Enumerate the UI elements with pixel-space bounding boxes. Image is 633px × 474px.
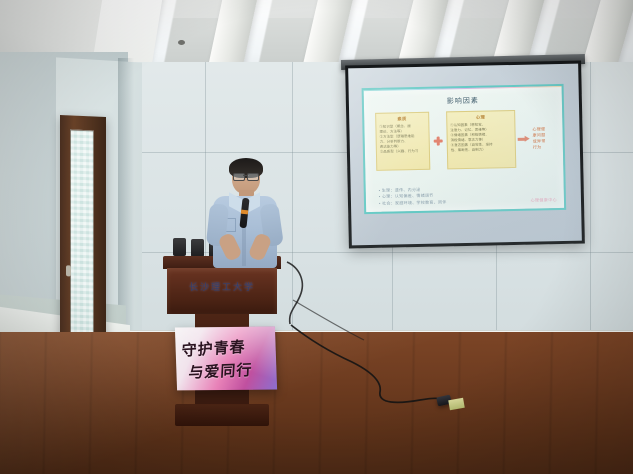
slide-arrow-cell	[517, 110, 532, 168]
slide-accent-bar	[364, 84, 562, 91]
screen-canvas: 影响因素 素质 ①知识型（概念、原 理论、方法等） ②方法型（逻辑思维能 力、分…	[348, 64, 582, 246]
banner-line-1: 守护青春	[181, 334, 269, 360]
side-door[interactable]	[60, 115, 106, 349]
slide-diagram: 素质 ①知识型（概念、原 理论、方法等） ②方法型（逻辑思维能 力、分析判断力、…	[375, 109, 552, 171]
slide-outcome-line: 行为	[533, 144, 546, 150]
wall-panel-seam	[590, 62, 591, 334]
lecture-hall-photo: 影响因素 素质 ①知识型（概念、原 理论、方法等） ②方法型（逻辑思维能 力、分…	[0, 0, 633, 474]
slide-title: 影响因素	[364, 94, 562, 108]
wood-floor	[0, 332, 633, 474]
desk-mic-1	[173, 238, 186, 256]
podium-front-panel: 长沙理工大学	[167, 268, 277, 314]
podium-institution-text: 长沙理工大学	[167, 280, 277, 293]
slide-plus-cell	[431, 111, 446, 169]
plus-icon	[433, 136, 442, 145]
presentation-slide: 影响因素 素质 ①知识型（概念、原 理论、方法等） ②方法型（逻辑思维能 力、分…	[362, 84, 567, 214]
smoke-detector-icon	[178, 40, 185, 45]
slide-box-left: 素质 ①知识型（概念、原 理论、方法等） ②方法型（逻辑思维能 力、分析判断力、…	[375, 112, 430, 171]
slide-box-left-line: ③品质型（兴趣、行为习	[380, 149, 426, 155]
banner-line-2: 与爱同行	[188, 358, 271, 383]
slide-box-right-header: 心理	[450, 114, 511, 121]
glasses-lens-right	[247, 173, 259, 181]
slide-box-left-header: 素质	[379, 116, 425, 123]
wall-panel-seam	[292, 62, 293, 338]
slide-box-right: 心理 ①认知因素（感知觉、 注意力、记忆、思维等） ②情绪因素（积极情绪、 消极…	[446, 110, 516, 169]
door-handle-icon[interactable]	[66, 265, 71, 276]
presenter	[196, 158, 292, 268]
door-glass-panel	[70, 129, 94, 340]
slide-box-right-line: 性、果断性、自制力）	[451, 147, 512, 153]
event-banner: 守护青春 与爱同行	[175, 327, 277, 391]
glasses-icon	[233, 173, 259, 179]
microphone-band	[241, 210, 248, 215]
arrow-right-icon	[517, 135, 530, 142]
slide-logo: 心理健康中心	[531, 197, 558, 204]
slide-outcome: 心理健 康问题 或异常 行为	[532, 109, 552, 167]
projection-screen: 影响因素 素质 ①知识型（概念、原 理论、方法等） ②方法型（逻辑思维能 力、分…	[345, 61, 585, 249]
slide-bullets: • 生理：遗传、内分泌 • 心理：认知偏差、情绪调节 • 社会：家庭环境、学校教…	[379, 184, 549, 208]
banner-text: 守护青春 与爱同行	[181, 337, 271, 382]
podium-base	[175, 404, 269, 426]
